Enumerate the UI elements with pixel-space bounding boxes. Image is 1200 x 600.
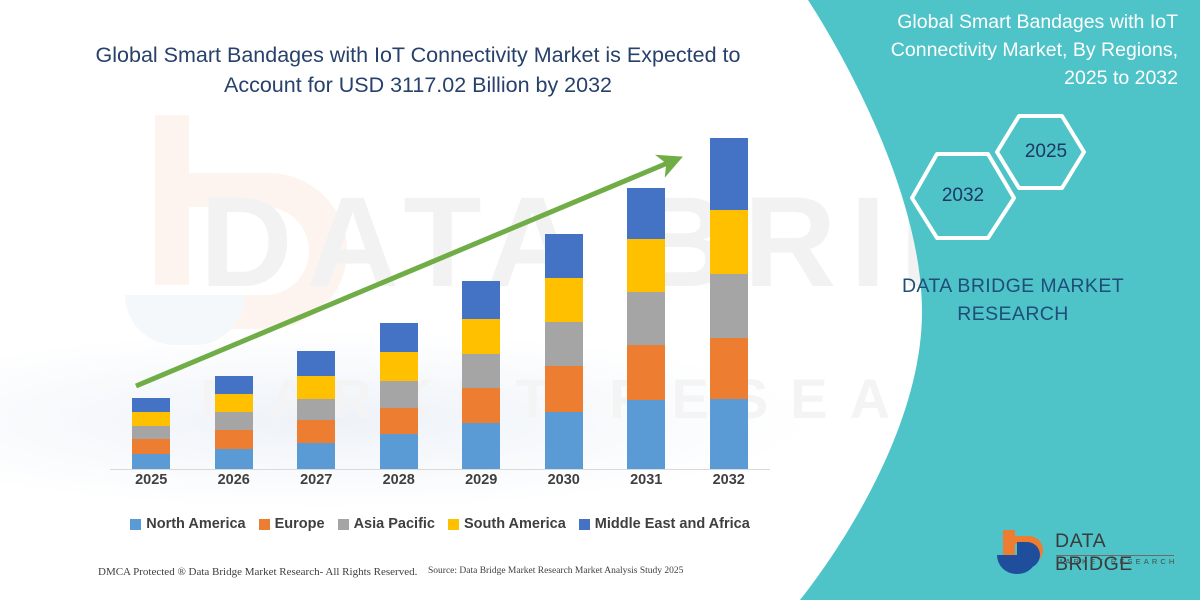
- legend-item-north-america[interactable]: North America: [130, 516, 245, 532]
- chart-legend: North AmericaEuropeAsia PacificSouth Ame…: [110, 512, 770, 536]
- legend-item-asia-pacific[interactable]: Asia Pacific: [338, 516, 435, 532]
- bar-2025: [132, 398, 170, 469]
- bar-segment: [627, 239, 665, 292]
- bar-2031: [627, 188, 665, 469]
- bar-segment: [380, 352, 418, 381]
- footer-source-text: Source: Data Bridge Market Research Mark…: [428, 566, 683, 576]
- x-axis-label-2025: 2025: [121, 472, 181, 488]
- legend-swatch-icon: [448, 519, 459, 530]
- x-axis-label-2027: 2027: [286, 472, 346, 488]
- bar-2026: [215, 376, 253, 469]
- legend-swatch-icon: [338, 519, 349, 530]
- bar-segment: [132, 412, 170, 426]
- hexagon-group: 2025 2032: [904, 112, 1104, 242]
- infographic-canvas: DATA BRIDGE MARKET RESEARCH Global Smart…: [0, 0, 1200, 600]
- x-axis-label-2026: 2026: [204, 472, 264, 488]
- x-axis-label-2031: 2031: [616, 472, 676, 488]
- bar-segment: [215, 412, 253, 430]
- x-axis-label-2029: 2029: [451, 472, 511, 488]
- stacked-bar-chart: [110, 120, 770, 470]
- db-bridge-mark-icon: [995, 528, 1053, 578]
- panel-heading: Global Smart Bandages with IoT Connectiv…: [848, 8, 1178, 92]
- bar-2029: [462, 281, 500, 469]
- bar-segment: [710, 399, 748, 469]
- bar-segment: [297, 420, 335, 442]
- footer: DMCA Protected ® Data Bridge Market Rese…: [0, 566, 800, 588]
- bar-segment: [380, 323, 418, 353]
- logo-subtitle: MARKET RESEARCH: [1056, 557, 1177, 566]
- bar-segment: [462, 388, 500, 423]
- bar-segment: [297, 351, 335, 375]
- bar-segment: [627, 345, 665, 400]
- bar-segment: [380, 381, 418, 408]
- legend-label: North America: [146, 516, 245, 532]
- logo-divider: [1056, 555, 1174, 556]
- bar-2030: [545, 234, 583, 469]
- page-title: Global Smart Bandages with IoT Connectiv…: [88, 40, 748, 100]
- legend-item-middle-east-and-africa[interactable]: Middle East and Africa: [579, 516, 750, 532]
- bar-segment: [215, 449, 253, 469]
- bar-segment: [462, 281, 500, 319]
- legend-label: South America: [464, 516, 566, 532]
- bar-segment: [462, 319, 500, 354]
- legend-label: Middle East and Africa: [595, 516, 750, 532]
- x-axis-label-2030: 2030: [534, 472, 594, 488]
- bar-2027: [297, 351, 335, 469]
- bar-segment: [215, 376, 253, 394]
- bar-segment: [297, 443, 335, 470]
- logo-wordmark: DATA BRIDGE: [1055, 530, 1185, 576]
- bar-segment: [380, 434, 418, 469]
- bar-segment: [545, 366, 583, 412]
- chart-axis-line: [110, 469, 770, 470]
- footer-dmca-text: DMCA Protected ® Data Bridge Market Rese…: [98, 566, 417, 578]
- data-bridge-logo: DATA BRIDGE MARKET RESEARCH: [995, 528, 1185, 580]
- legend-label: Europe: [275, 516, 325, 532]
- bar-segment: [462, 354, 500, 388]
- legend-item-south-america[interactable]: South America: [448, 516, 566, 532]
- bar-segment: [710, 138, 748, 210]
- bar-segment: [710, 274, 748, 338]
- bar-segment: [297, 399, 335, 420]
- bar-segment: [215, 430, 253, 449]
- legend-item-europe[interactable]: Europe: [259, 516, 325, 532]
- bar-segment: [710, 338, 748, 400]
- bar-segment: [132, 398, 170, 412]
- bar-segment: [297, 376, 335, 399]
- bar-segment: [215, 394, 253, 412]
- legend-label: Asia Pacific: [354, 516, 435, 532]
- legend-swatch-icon: [259, 519, 270, 530]
- bar-segment: [627, 188, 665, 239]
- bar-2028: [380, 323, 418, 469]
- bar-segment: [545, 278, 583, 321]
- hexagon-label-2032: 2032: [933, 185, 993, 207]
- bar-segment: [462, 423, 500, 469]
- bar-segment: [132, 426, 170, 440]
- legend-swatch-icon: [130, 519, 141, 530]
- bar-segment: [132, 454, 170, 469]
- panel-brand-text: DATA BRIDGE MARKET RESEARCH: [848, 272, 1178, 328]
- bar-segment: [710, 210, 748, 274]
- bar-segment: [132, 439, 170, 454]
- chart-x-axis-labels: 20252026202720282029203020312032: [110, 472, 770, 498]
- bar-segment: [627, 292, 665, 345]
- x-axis-label-2032: 2032: [699, 472, 759, 488]
- bar-segment: [627, 400, 665, 469]
- bar-segment: [380, 408, 418, 435]
- hexagon-outlines-icon: [904, 112, 1104, 242]
- bar-segment: [545, 322, 583, 367]
- bar-segment: [545, 412, 583, 469]
- bar-2032: [710, 138, 748, 469]
- growth-arrow-icon: [110, 120, 770, 470]
- x-axis-label-2028: 2028: [369, 472, 429, 488]
- bar-segment: [545, 234, 583, 279]
- legend-swatch-icon: [579, 519, 590, 530]
- hexagon-label-2025: 2025: [1016, 141, 1076, 163]
